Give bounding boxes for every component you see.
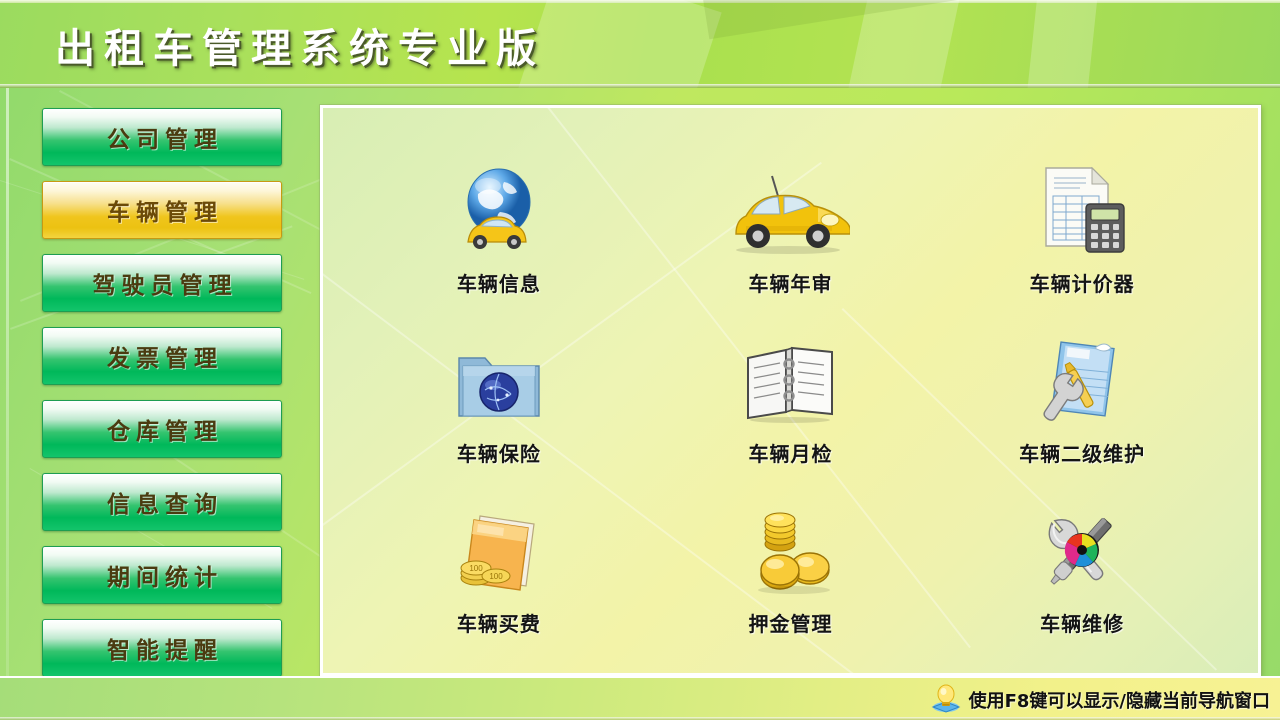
sidebar-item-label: 信息查询 xyxy=(101,485,223,519)
sidebar-item-7[interactable]: 期间统计 xyxy=(42,546,282,604)
module-tile-7[interactable]: 100 100 车辆买费 xyxy=(353,483,645,653)
lightbulb-tip-icon xyxy=(929,683,963,717)
module-tile-label: 车辆保险 xyxy=(457,438,541,467)
open-binder-icon xyxy=(742,328,838,426)
status-hint-text: 使用F8键可以显示/隐藏当前导航窗口 xyxy=(969,687,1270,713)
module-grid: 车辆信息 车辆年审 xyxy=(323,108,1258,673)
sidebar-item-label: 智能提醒 xyxy=(101,631,223,665)
module-tile-8[interactable]: 押金管理 xyxy=(645,483,937,653)
module-tile-label: 车辆维修 xyxy=(1040,608,1124,637)
sidebar-edge xyxy=(6,88,9,676)
module-tile-1[interactable]: 车辆信息 xyxy=(353,142,645,312)
module-tile-5[interactable]: 车辆月检 xyxy=(645,312,937,482)
module-tile-9[interactable]: 车辆维修 xyxy=(936,483,1228,653)
sidebar-item-1[interactable]: 公司管理 xyxy=(42,108,282,166)
sidebar-item-4[interactable]: 发票管理 xyxy=(42,327,282,385)
svg-text:100: 100 xyxy=(489,572,503,581)
module-tile-label: 车辆年审 xyxy=(748,268,832,297)
sidebar-item-label: 驾驶员管理 xyxy=(87,266,238,300)
page-title: 出租车管理系统专业版 xyxy=(55,16,545,74)
sidebar-item-2[interactable]: 车辆管理 xyxy=(42,181,282,239)
sidebar-item-label: 公司管理 xyxy=(101,120,223,154)
app-header: 出租车管理系统专业版 xyxy=(0,0,1280,88)
module-tile-6[interactable]: 车辆二级维护 xyxy=(936,312,1228,482)
sidebar: 公司管理车辆管理驾驶员管理发票管理仓库管理信息查询期间统计智能提醒 xyxy=(0,88,316,676)
document-calculator-icon xyxy=(1036,158,1128,256)
globe-car-icon xyxy=(456,158,542,256)
sidebar-item-8[interactable]: 智能提醒 xyxy=(42,619,282,676)
content-panel: 车辆信息 车辆年审 xyxy=(320,105,1261,676)
wrench-screwdriver-icon xyxy=(1035,498,1129,596)
sidebar-item-label: 车辆管理 xyxy=(101,193,223,227)
module-tile-label: 车辆月检 xyxy=(748,438,832,467)
module-tile-label: 车辆信息 xyxy=(457,268,541,297)
sidebar-item-label: 期间统计 xyxy=(101,558,223,592)
sidebar-item-label: 仓库管理 xyxy=(101,412,223,446)
yellow-car-icon xyxy=(730,158,850,256)
sidebar-item-6[interactable]: 信息查询 xyxy=(42,473,282,531)
orange-folder-coins-icon: 100 100 xyxy=(452,498,546,596)
module-tile-label: 押金管理 xyxy=(748,608,832,637)
module-tile-2[interactable]: 车辆年审 xyxy=(645,142,937,312)
status-bar: 使用F8键可以显示/隐藏当前导航窗口 xyxy=(0,676,1280,720)
module-tile-4[interactable]: 车辆保险 xyxy=(353,312,645,482)
sidebar-item-5[interactable]: 仓库管理 xyxy=(42,400,282,458)
app-window: 出租车管理系统专业版 公司管理车辆管理驾驶员管理发票管理仓库管理信息查询期间统计… xyxy=(0,0,1280,720)
module-tile-label: 车辆计价器 xyxy=(1030,268,1135,297)
sidebar-item-3[interactable]: 驾驶员管理 xyxy=(42,254,282,312)
module-tile-label: 车辆二级维护 xyxy=(1019,438,1145,467)
book-wrench-icon xyxy=(1035,328,1129,426)
gold-coins-icon xyxy=(744,498,836,596)
blue-folder-globe-icon xyxy=(453,328,545,426)
module-tile-label: 车辆买费 xyxy=(457,608,541,637)
module-tile-3[interactable]: 车辆计价器 xyxy=(936,142,1228,312)
svg-text:100: 100 xyxy=(469,564,483,573)
sidebar-item-label: 发票管理 xyxy=(101,339,223,373)
